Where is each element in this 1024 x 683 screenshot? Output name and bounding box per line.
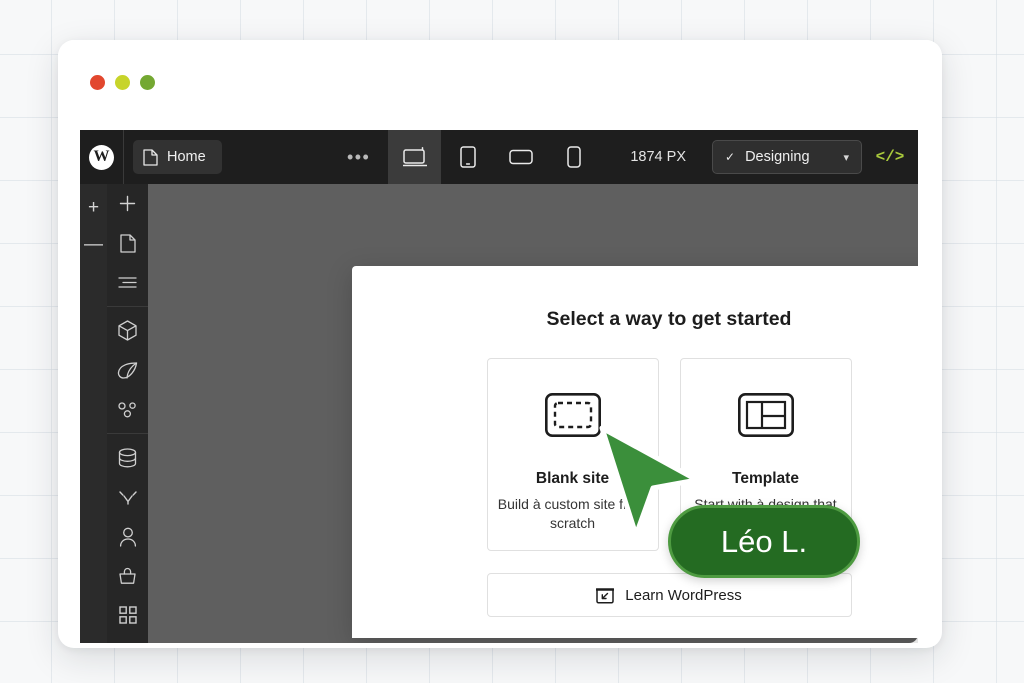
learn-wordpress-button[interactable]: Learn WordPress <box>487 573 852 617</box>
zoom-in-button[interactable]: + <box>88 198 99 217</box>
template-title: Template <box>732 470 799 488</box>
collaborator-name-badge: Léo L. <box>668 505 860 578</box>
blank-site-card[interactable]: Blank site Build à custom site from scra… <box>487 358 659 551</box>
dots-icon <box>118 402 138 418</box>
wordpress-logo-icon: W <box>89 145 114 170</box>
page-icon <box>120 234 136 253</box>
sidebar-item-store[interactable] <box>107 556 148 595</box>
sidebar-item-interactions[interactable] <box>107 390 148 429</box>
zoom-out-button[interactable]: — <box>84 235 103 254</box>
sidebar-item-navigation[interactable] <box>107 263 148 302</box>
learn-wordpress-label: Learn WordPress <box>625 587 741 604</box>
cube-icon <box>118 320 137 341</box>
code-icon: </> <box>876 148 905 166</box>
code-view-button[interactable]: </> <box>862 130 918 184</box>
window-maximize-button[interactable] <box>140 75 155 90</box>
wordpress-logo-button[interactable]: W <box>80 130 123 184</box>
viewport-width-label: 1874 PX <box>600 149 712 165</box>
document-icon <box>143 149 158 166</box>
window-minimize-button[interactable] <box>115 75 130 90</box>
grid-icon <box>119 606 137 624</box>
modal-title: Select a way to get started <box>352 308 918 331</box>
device-desktop-button[interactable] <box>388 130 441 184</box>
plus-icon <box>119 195 136 212</box>
collaborator-name: Léo L. <box>721 524 807 560</box>
sidebar-item-pages[interactable] <box>107 223 148 262</box>
database-icon <box>118 448 137 468</box>
sidebar-item-apps[interactable] <box>107 596 148 635</box>
tablet-portrait-icon <box>460 146 476 168</box>
editor-sidebar <box>107 184 148 643</box>
person-icon <box>119 527 137 547</box>
status-dropdown[interactable]: ✓ Designing ▾ <box>712 140 862 174</box>
toolbar-more-button[interactable]: ••• <box>329 148 388 166</box>
status-label: Designing <box>745 149 810 165</box>
zoom-rail: + — <box>80 184 107 643</box>
window-close-button[interactable] <box>90 75 105 90</box>
bag-icon <box>118 567 137 585</box>
sidebar-item-data[interactable] <box>107 438 148 477</box>
sidebar-item-add[interactable] <box>107 184 148 223</box>
sidebar-item-components[interactable] <box>107 311 148 350</box>
blank-site-title: Blank site <box>536 470 609 488</box>
tablet-landscape-icon <box>509 148 533 166</box>
toolbar-divider <box>123 130 124 184</box>
chevron-down-icon: ▾ <box>843 151 849 164</box>
sidebar-divider <box>107 433 148 434</box>
sidebar-divider <box>107 306 148 307</box>
get-started-modal: Select a way to get started Blank site B… <box>352 266 918 638</box>
desktop-icon <box>403 147 427 168</box>
window-titlebar <box>58 40 942 130</box>
screenshot-stage: W Home ••• <box>0 0 1024 683</box>
sidebar-item-styles[interactable] <box>107 350 148 389</box>
editor-toolbar: W Home ••• <box>80 130 918 184</box>
merge-icon <box>118 488 138 506</box>
mobile-icon <box>567 146 581 168</box>
check-icon: ✓ <box>725 150 735 164</box>
learn-box-icon <box>596 586 614 604</box>
blank-site-description: Build à custom site from scratch <box>498 495 648 533</box>
sidebar-item-users[interactable] <box>107 517 148 556</box>
sidebar-item-merge[interactable] <box>107 478 148 517</box>
leaf-icon <box>117 361 138 380</box>
device-tablet-landscape-button[interactable] <box>494 130 547 184</box>
list-icon <box>118 276 137 289</box>
blank-frame-icon <box>545 393 601 442</box>
layout-template-icon <box>738 393 794 442</box>
home-label: Home <box>167 149 206 165</box>
home-breadcrumb-button[interactable]: Home <box>133 140 222 174</box>
device-tablet-portrait-button[interactable] <box>441 130 494 184</box>
device-mobile-button[interactable] <box>547 130 600 184</box>
